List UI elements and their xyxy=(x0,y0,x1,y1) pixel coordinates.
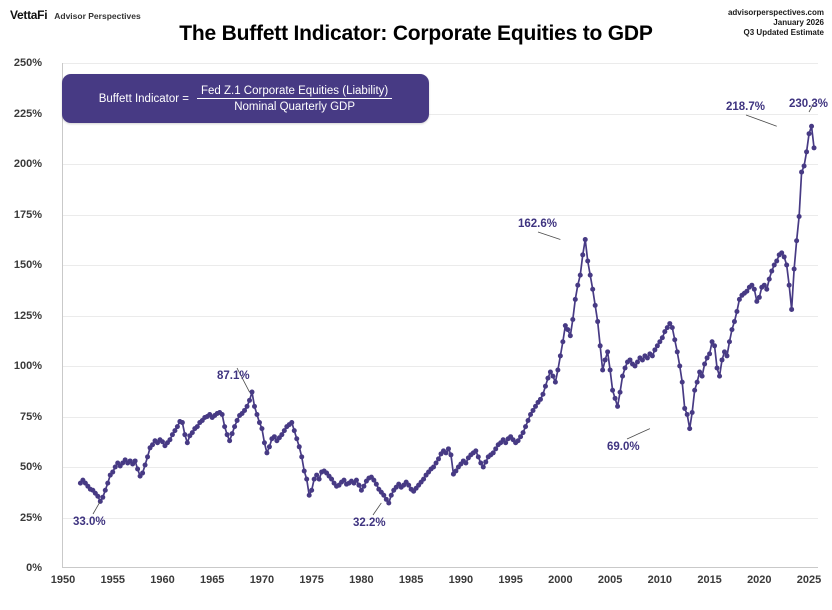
data-point xyxy=(110,470,115,475)
data-point xyxy=(304,477,309,482)
data-point xyxy=(660,335,665,340)
data-point xyxy=(593,303,598,308)
y-axis-tick-label: 200% xyxy=(0,158,42,170)
data-point xyxy=(724,353,729,358)
data-point xyxy=(715,366,720,371)
data-point xyxy=(670,325,675,330)
data-point xyxy=(752,287,757,292)
data-point xyxy=(463,460,468,465)
data-point xyxy=(720,357,725,362)
data-point xyxy=(555,368,560,373)
data-point xyxy=(605,349,610,354)
data-point xyxy=(794,238,799,243)
attribution-site: advisorperspectives.com xyxy=(728,8,824,18)
data-point xyxy=(180,420,185,425)
series-line xyxy=(80,126,814,503)
data-point xyxy=(789,307,794,312)
data-point xyxy=(135,467,140,472)
data-point xyxy=(103,488,108,493)
data-point xyxy=(175,424,180,429)
data-point xyxy=(289,420,294,425)
annotation-leader-line xyxy=(373,503,381,515)
data-point xyxy=(717,374,722,379)
data-point xyxy=(707,351,712,356)
data-point xyxy=(145,454,150,459)
data-point xyxy=(757,295,762,300)
data-annotation-label: 162.6% xyxy=(518,218,557,230)
data-point xyxy=(526,418,531,423)
annotation-leader-line xyxy=(538,232,560,240)
y-axis-tick-label: 150% xyxy=(0,259,42,271)
data-point xyxy=(590,287,595,292)
data-point xyxy=(222,424,227,429)
data-point xyxy=(702,361,707,366)
data-point xyxy=(623,366,628,371)
data-point xyxy=(650,353,655,358)
data-point xyxy=(598,343,603,348)
data-point xyxy=(95,494,100,499)
data-point xyxy=(603,357,608,362)
data-point xyxy=(483,459,488,464)
data-point xyxy=(267,444,272,449)
data-point xyxy=(227,438,232,443)
data-point xyxy=(448,452,453,457)
data-point xyxy=(182,432,187,437)
data-point xyxy=(615,404,620,409)
data-point xyxy=(550,374,555,379)
data-point xyxy=(294,436,299,441)
data-point xyxy=(558,353,563,358)
data-point xyxy=(672,337,677,342)
data-point xyxy=(690,410,695,415)
data-point xyxy=(230,431,235,436)
data-annotation-label: 33.0% xyxy=(73,516,106,528)
data-point xyxy=(481,465,486,470)
data-point xyxy=(553,380,558,385)
data-point xyxy=(812,145,817,150)
data-point xyxy=(620,374,625,379)
data-point xyxy=(588,273,593,278)
data-point xyxy=(307,493,312,498)
data-point xyxy=(600,368,605,373)
data-point xyxy=(361,484,366,489)
data-point xyxy=(309,488,314,493)
data-point xyxy=(575,283,580,288)
data-point xyxy=(143,462,148,467)
data-point xyxy=(545,376,550,381)
data-point xyxy=(235,418,240,423)
data-annotation-label: 87.1% xyxy=(217,370,250,382)
vettafi-logo: VettaFi xyxy=(10,8,47,22)
data-point xyxy=(680,380,685,385)
data-point xyxy=(540,392,545,397)
data-point xyxy=(764,287,769,292)
data-point xyxy=(682,406,687,411)
data-annotation-label: 230.3% xyxy=(789,98,828,110)
data-point xyxy=(608,368,613,373)
data-point xyxy=(568,333,573,338)
data-point xyxy=(374,482,379,487)
brand-subtitle: Advisor Perspectives xyxy=(54,11,140,21)
formula-denominator: Nominal Quarterly GDP xyxy=(234,99,355,113)
annotation-leader-line xyxy=(746,115,777,126)
data-point xyxy=(573,297,578,302)
data-point xyxy=(264,450,269,455)
data-point xyxy=(767,277,772,282)
x-axis-tick-label: 2025 xyxy=(779,574,832,586)
data-point xyxy=(792,267,797,272)
annotation-leader-line xyxy=(93,501,100,514)
data-point xyxy=(100,495,105,500)
data-point xyxy=(167,437,172,442)
data-point xyxy=(685,412,690,417)
data-point xyxy=(538,397,543,402)
data-point xyxy=(250,390,255,395)
data-annotation-label: 32.2% xyxy=(353,517,386,529)
data-point xyxy=(782,254,787,259)
data-point xyxy=(292,428,297,433)
y-axis-tick-label: 225% xyxy=(0,108,42,120)
data-point xyxy=(543,384,548,389)
data-point xyxy=(583,237,588,242)
data-point xyxy=(262,440,267,445)
data-point xyxy=(252,404,257,409)
data-point xyxy=(687,426,692,431)
data-point xyxy=(389,493,394,498)
data-point xyxy=(317,477,322,482)
data-point xyxy=(297,444,302,449)
data-point xyxy=(254,412,259,417)
y-axis-tick-label: 0% xyxy=(0,562,42,574)
data-point xyxy=(613,396,618,401)
formula-left-side: Buffett Indicator = xyxy=(99,93,189,105)
data-annotation-label: 69.0% xyxy=(607,441,640,453)
series-line-chart xyxy=(63,63,819,568)
data-point xyxy=(595,319,600,324)
data-point xyxy=(232,424,237,429)
data-point xyxy=(105,481,110,486)
data-point xyxy=(354,478,359,483)
data-point xyxy=(580,252,585,257)
y-axis-tick-label: 100% xyxy=(0,360,42,372)
data-point xyxy=(675,349,680,354)
data-point xyxy=(784,263,789,268)
data-point xyxy=(570,317,575,322)
data-point xyxy=(729,327,734,332)
y-axis-tick-label: 25% xyxy=(0,512,42,524)
data-point xyxy=(695,380,700,385)
formula-fraction: Fed Z.1 Corporate Equities (Liability) N… xyxy=(197,85,392,113)
data-point xyxy=(807,131,812,136)
data-point xyxy=(797,214,802,219)
data-point xyxy=(521,430,526,435)
data-point xyxy=(133,458,138,463)
data-point xyxy=(585,258,590,263)
chart-title: The Buffett Indicator: Corporate Equitie… xyxy=(0,22,832,46)
data-point xyxy=(523,424,528,429)
data-point xyxy=(712,343,717,348)
chart-page: VettaFi Advisor Perspectives advisorpers… xyxy=(0,0,832,610)
data-point xyxy=(247,398,252,403)
data-point xyxy=(565,327,570,332)
formula-numerator: Fed Z.1 Corporate Equities (Liability) xyxy=(197,85,392,99)
data-point xyxy=(356,483,361,488)
data-point xyxy=(302,469,307,474)
data-annotation-label: 218.7% xyxy=(726,101,765,113)
data-point xyxy=(769,269,774,274)
data-point xyxy=(774,258,779,263)
data-point xyxy=(473,448,478,453)
annotation-leader-line xyxy=(627,429,650,439)
y-axis-tick-label: 75% xyxy=(0,411,42,423)
y-axis-tick-label: 50% xyxy=(0,461,42,473)
data-point xyxy=(185,440,190,445)
data-point xyxy=(386,500,391,505)
data-point xyxy=(299,454,304,459)
data-point xyxy=(618,390,623,395)
data-point xyxy=(446,446,451,451)
data-point xyxy=(727,339,732,344)
data-point xyxy=(476,454,481,459)
brand-logo-group: VettaFi Advisor Perspectives xyxy=(10,8,141,22)
y-axis-tick-label: 250% xyxy=(0,57,42,69)
data-point xyxy=(802,164,807,169)
data-point xyxy=(732,319,737,324)
data-point xyxy=(700,374,705,379)
data-point xyxy=(610,388,615,393)
data-point xyxy=(804,149,809,154)
data-point xyxy=(220,412,225,417)
data-point xyxy=(799,170,804,175)
data-point xyxy=(734,309,739,314)
data-point xyxy=(259,426,264,431)
data-point xyxy=(140,471,145,476)
y-axis-tick-label: 175% xyxy=(0,209,42,221)
data-point xyxy=(578,273,583,278)
data-point xyxy=(692,388,697,393)
data-point xyxy=(787,283,792,288)
data-point xyxy=(436,456,441,461)
data-point xyxy=(245,404,250,409)
data-point xyxy=(257,420,262,425)
y-axis-tick-label: 125% xyxy=(0,310,42,322)
data-point xyxy=(677,364,682,369)
plot-area: 0%25%50%75%100%125%150%175%200%225%250% … xyxy=(62,63,818,568)
data-point xyxy=(560,339,565,344)
data-point xyxy=(225,432,230,437)
formula-callout: Buffett Indicator = Fed Z.1 Corporate Eq… xyxy=(62,74,429,123)
data-point xyxy=(809,124,814,129)
